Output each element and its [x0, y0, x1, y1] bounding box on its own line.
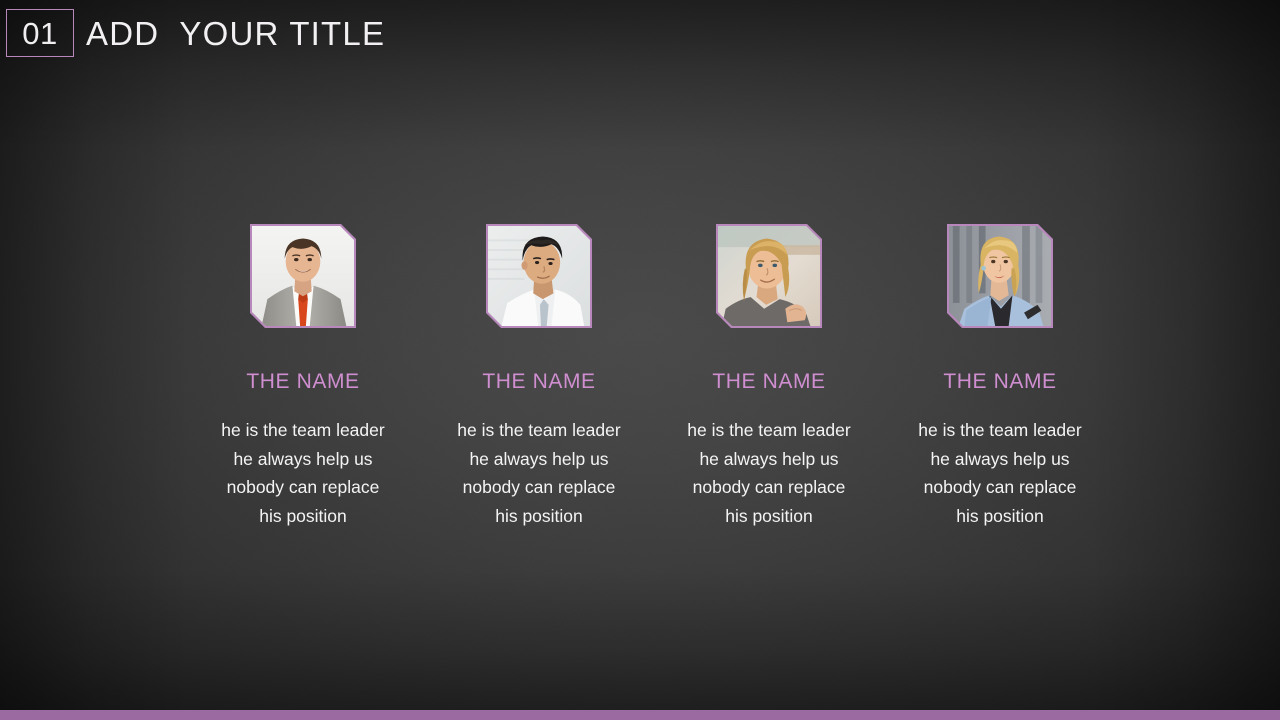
- member-photo-frame-4[interactable]: [947, 224, 1053, 328]
- slide-canvas: 01 ADD YOUR TITLE: [0, 0, 1280, 720]
- member-description-2: he is the team leader he always help us …: [422, 416, 656, 530]
- team-member-2[interactable]: THE NAME he is the team leader he always…: [422, 224, 656, 530]
- member-description-3: he is the team leader he always help us …: [652, 416, 886, 530]
- member-name-2: THE NAME: [422, 371, 656, 392]
- member-photo-frame-3[interactable]: [716, 224, 822, 328]
- member-name-1: THE NAME: [186, 371, 420, 392]
- member-description-1: he is the team leader he always help us …: [186, 416, 420, 530]
- footer-accent-bar: [0, 710, 1280, 720]
- member-name-3: THE NAME: [652, 371, 886, 392]
- portrait-illustration-2: [488, 226, 590, 326]
- member-description-4: he is the team leader he always help us …: [883, 416, 1117, 530]
- team-member-row: THE NAME he is the team leader he always…: [0, 0, 1280, 720]
- team-member-3[interactable]: THE NAME he is the team leader he always…: [652, 224, 886, 530]
- member-photo-1: [252, 226, 354, 326]
- member-photo-2: [488, 226, 590, 326]
- member-name-4: THE NAME: [883, 371, 1117, 392]
- portrait-illustration-3: [718, 226, 820, 326]
- member-photo-frame-2[interactable]: [486, 224, 592, 328]
- member-photo-frame-1[interactable]: [250, 224, 356, 328]
- member-photo-3: [718, 226, 820, 326]
- team-member-1[interactable]: THE NAME he is the team leader he always…: [186, 224, 420, 530]
- portrait-illustration-1: [252, 226, 354, 326]
- team-member-4[interactable]: THE NAME he is the team leader he always…: [883, 224, 1117, 530]
- portrait-illustration-4: [949, 226, 1051, 326]
- member-photo-4: [949, 226, 1051, 326]
